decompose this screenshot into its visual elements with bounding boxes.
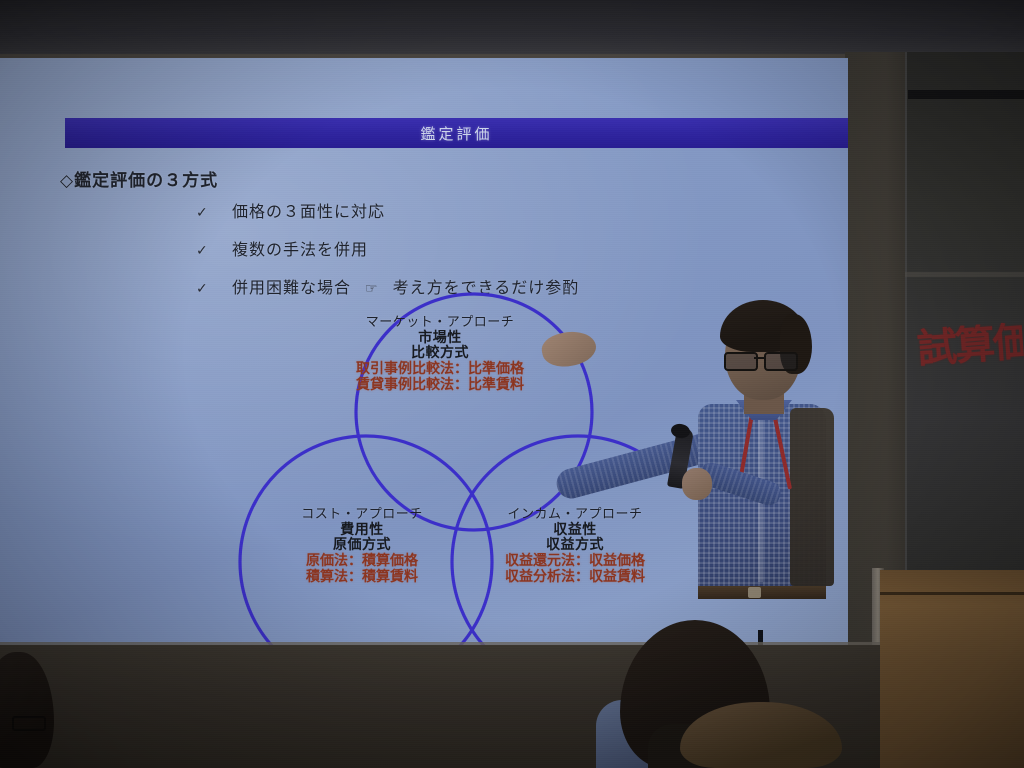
list-item: ✓ 価格の３面性に対応 xyxy=(196,198,579,222)
whiteboard xyxy=(905,52,1024,572)
photo-stage: 試算価 鑑定評価 ◇鑑定評価の３方式 ✓ 価格の３面性に対応 ✓ 複数の手法を併… xyxy=(0,0,1024,768)
check-icon: ✓ xyxy=(196,205,232,221)
slide-title-text: 鑑定評価 xyxy=(420,123,492,144)
check-icon: ✓ xyxy=(196,281,232,297)
presenter-vest xyxy=(790,408,834,586)
slide-heading: ◇鑑定評価の３方式 xyxy=(60,166,218,191)
venn-top-red-2: 賃貸事例比較法：比準賃料 xyxy=(280,378,600,394)
bullet-text: 価格の３面性に対応 xyxy=(232,198,385,222)
audience-left-glasses xyxy=(12,716,46,731)
wooden-cabinet xyxy=(880,570,1024,768)
whiteboard-rail-top xyxy=(908,90,1024,99)
glasses-lens-left xyxy=(724,352,758,371)
slide-title-banner: 鑑定評価 xyxy=(65,118,848,148)
ceiling-dark-band xyxy=(0,0,1024,58)
whiteboard-writing: 試算価 xyxy=(916,321,1024,398)
check-icon: ✓ xyxy=(196,243,232,259)
venn-top-name: マーケット・アプローチ xyxy=(280,316,600,331)
whiteboard-rail-middle xyxy=(905,272,1024,277)
glasses-lens-right xyxy=(764,352,798,371)
presenter-mic-hand xyxy=(682,468,712,500)
list-item: ✓ 複数の手法を併用 xyxy=(196,236,579,260)
presenter-glasses xyxy=(724,352,798,368)
bullet-text: 複数の手法を併用 xyxy=(232,236,368,260)
